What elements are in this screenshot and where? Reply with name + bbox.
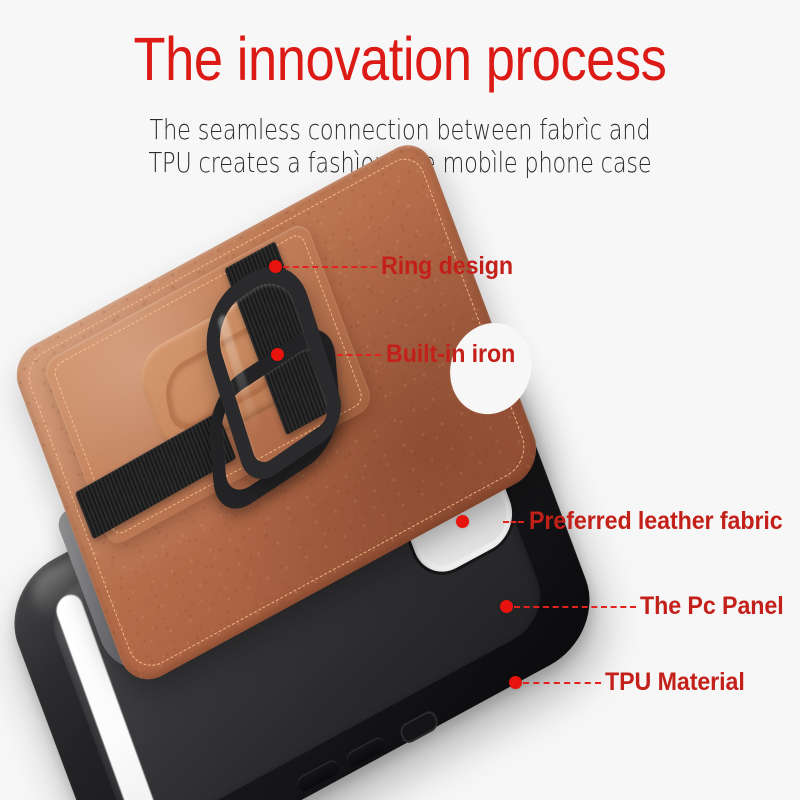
callout-label: The Pc Panel	[640, 594, 784, 619]
callout-leader-line	[337, 354, 381, 356]
callout-dot	[456, 515, 469, 528]
callout-leader-line	[283, 266, 377, 268]
callout-leader-line	[514, 606, 636, 608]
callout-label: TPU Material	[605, 670, 745, 695]
product-photo	[0, 195, 800, 800]
callout-dot	[269, 260, 282, 273]
page-title: The innovation process	[56, 26, 744, 92]
callout-dot	[500, 600, 513, 613]
callout-dot	[271, 348, 284, 361]
infographic-page: The innovation process The seamless conn…	[0, 0, 800, 800]
callout-leader-line	[523, 682, 601, 684]
callout-label: Built-in iron	[386, 342, 515, 367]
callout-label: Ring design	[381, 254, 513, 279]
callout-label: Preferred leather fabric	[529, 509, 783, 534]
subtitle-line-1: The seamless connection between fabrìc a…	[80, 113, 720, 146]
callout-leader-line	[503, 521, 524, 523]
callout-dot	[509, 676, 522, 689]
